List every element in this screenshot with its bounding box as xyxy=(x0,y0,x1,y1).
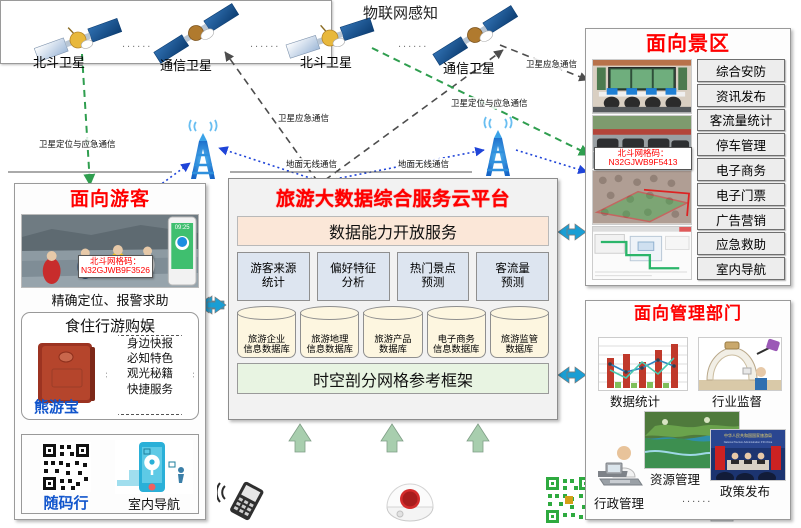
policy-release-image: 中华人民共和国国家旅游局 National Tourism Administra… xyxy=(710,429,786,481)
svg-text:National Tourism Administratio: National Tourism Administration P.R.Chin… xyxy=(724,440,773,444)
tourist-bottom-row: 随码行 室内导航 xyxy=(21,434,199,514)
scenic-btn-flow-stats[interactable]: 客流量统计 xyxy=(697,109,785,132)
scenic-btn-eticket[interactable]: 电子门票 xyxy=(697,183,785,206)
scenic-btn-indoor-nav[interactable]: 室内导航 xyxy=(697,257,785,280)
svg-text:09:25: 09:25 xyxy=(175,225,190,231)
brand-app-label: 熊游宝 xyxy=(34,396,79,417)
indoor-navigation-icon xyxy=(115,440,193,494)
policy-release-label: 政策发布 xyxy=(720,481,770,500)
scenic-btn-emergency-rescue[interactable]: 应急救助 xyxy=(697,232,785,255)
service-item[interactable]: 快捷服务 xyxy=(106,383,194,398)
service-item[interactable]: 观光秘籍 xyxy=(106,367,194,382)
tourist-services-box: 食住行游购娱 身边快报 必知特色 观光秘籍 快捷服务 熊游宝 xyxy=(21,312,199,420)
tourist-panel-title: 面向游客 xyxy=(15,190,205,209)
tourist-photo-caption: 精确定位、报警求助 xyxy=(15,290,205,309)
service-item[interactable]: 必知特色 xyxy=(106,352,194,367)
rfid-reader-icon xyxy=(217,473,277,525)
admin-panel-title: 面向管理部门 xyxy=(586,305,790,322)
iot-sensing-panel: 物联网感知 xyxy=(0,0,332,64)
resource-management-label: 资源管理 xyxy=(650,469,700,488)
iot-title: 物联网感知 xyxy=(0,2,801,23)
industry-supervision-label: 行业监督 xyxy=(712,391,762,410)
qr-code-icon xyxy=(40,442,92,492)
indoor-nav-label: 室内导航 xyxy=(128,494,180,513)
scenic-btn-ecommerce[interactable]: 电子商务 xyxy=(697,158,785,181)
scenic-grid-code: 北斗网格码： N32GJWB9F5413 xyxy=(594,147,692,170)
diagram-canvas: 北斗卫星 通信卫星 北斗卫星 通信卫星 ...... ...... ......… xyxy=(0,0,801,528)
tourist-panel: 面向游客 09:25 北斗网 xyxy=(14,183,206,520)
administrative-management-image xyxy=(598,441,650,489)
admin-ellipsis: ...... xyxy=(682,493,712,505)
scenic-function-buttons: 综合安防 资讯发布 客流量统计 停车管理 电子商务 电子门票 广告营销 应急救助… xyxy=(697,59,785,280)
indoor-map-photo xyxy=(592,226,692,281)
data-statistics-chart xyxy=(598,337,688,391)
scenic-panel: 面向景区 xyxy=(585,28,791,286)
grid-code-value: N32GJWB9F5413 xyxy=(609,157,678,167)
industry-supervision-image xyxy=(698,337,782,391)
scenic-btn-security[interactable]: 综合安防 xyxy=(697,59,785,82)
svg-text:中华人民共和国国家旅游局: 中华人民共和国国家旅游局 xyxy=(724,432,772,438)
scenic-btn-info-release[interactable]: 资讯发布 xyxy=(697,84,785,107)
admin-panel: 面向管理部门 xyxy=(585,300,791,520)
scenic-photo-stack: 北斗网格码： N32GJWB9F5413 xyxy=(592,59,692,280)
qr-brand-label: 随码行 xyxy=(43,492,88,513)
tourist-photo: 09:25 北斗网格码： N32GJWB9F3526 xyxy=(21,214,199,288)
services-header: 食住行游购娱 xyxy=(22,315,198,336)
scenic-panel-title: 面向景区 xyxy=(586,34,790,54)
control-room-photo xyxy=(592,59,692,114)
data-statistics-label: 数据统计 xyxy=(610,391,660,410)
grid-code-value: N32GJWB9F3526 xyxy=(81,265,150,275)
scenic-btn-ad-marketing[interactable]: 广告营销 xyxy=(697,208,785,231)
administrative-management-label: 行政管理 xyxy=(594,493,644,512)
crowd-analytics-photo xyxy=(592,170,692,225)
tourist-grid-code: 北斗网格码： N32GJWB9F3526 xyxy=(78,255,153,278)
service-item[interactable]: 身边快报 xyxy=(106,337,194,352)
smoke-detector-icon xyxy=(382,473,438,525)
qr-pass-cell[interactable]: 随码行 xyxy=(22,435,110,513)
scenic-btn-parking[interactable]: 停车管理 xyxy=(697,133,785,156)
indoor-nav-cell[interactable]: 室内导航 xyxy=(110,435,198,513)
service-items-hex: 身边快报 必知特色 观光秘籍 快捷服务 xyxy=(106,335,194,415)
